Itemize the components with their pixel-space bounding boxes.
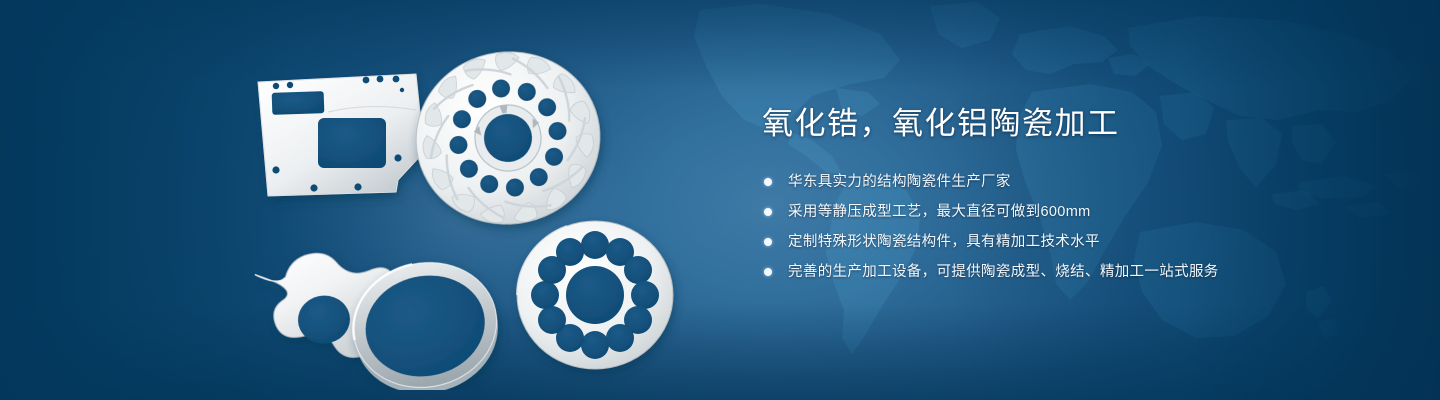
ceramic-ring bbox=[342, 249, 510, 390]
ceramic-perforated-disc bbox=[517, 221, 673, 369]
page-title: 氧化锆，氧化铝陶瓷加工 bbox=[762, 104, 1382, 145]
bullet-dot-icon bbox=[764, 178, 772, 186]
ceramic-mounting-plate bbox=[258, 74, 424, 196]
list-item: 完善的生产加工设备，可提供陶瓷成型、烧结、精加工一站式服务 bbox=[762, 261, 1382, 283]
hero-banner: 氧化锆，氧化铝陶瓷加工 华东具实力的结构陶瓷件生产厂家 采用等静压成型工艺，最大… bbox=[0, 0, 1440, 400]
bullet-dot-icon bbox=[764, 208, 772, 216]
list-item-label: 华东具实力的结构陶瓷件生产厂家 bbox=[788, 174, 1011, 190]
bullet-dot-icon bbox=[764, 268, 772, 276]
banner-copy: 氧化锆，氧化铝陶瓷加工 华东具实力的结构陶瓷件生产厂家 采用等静压成型工艺，最大… bbox=[762, 104, 1382, 283]
list-item-label: 完善的生产加工设备，可提供陶瓷成型、烧结、精加工一站式服务 bbox=[788, 264, 1219, 280]
list-item: 定制特殊形状陶瓷结构件，具有精加工技术水平 bbox=[762, 231, 1382, 253]
ceramic-impeller-disc bbox=[404, 36, 611, 240]
list-item-label: 定制特殊形状陶瓷结构件，具有精加工技术水平 bbox=[788, 234, 1100, 250]
list-item: 华东具实力的结构陶瓷件生产厂家 bbox=[762, 171, 1382, 193]
bullet-dot-icon bbox=[764, 238, 772, 246]
product-photo-group bbox=[210, 30, 730, 390]
list-item-label: 采用等静压成型工艺，最大直径可做到600mm bbox=[788, 204, 1091, 220]
list-item: 采用等静压成型工艺，最大直径可做到600mm bbox=[762, 201, 1382, 223]
feature-list: 华东具实力的结构陶瓷件生产厂家 采用等静压成型工艺，最大直径可做到600mm 定… bbox=[762, 171, 1382, 283]
